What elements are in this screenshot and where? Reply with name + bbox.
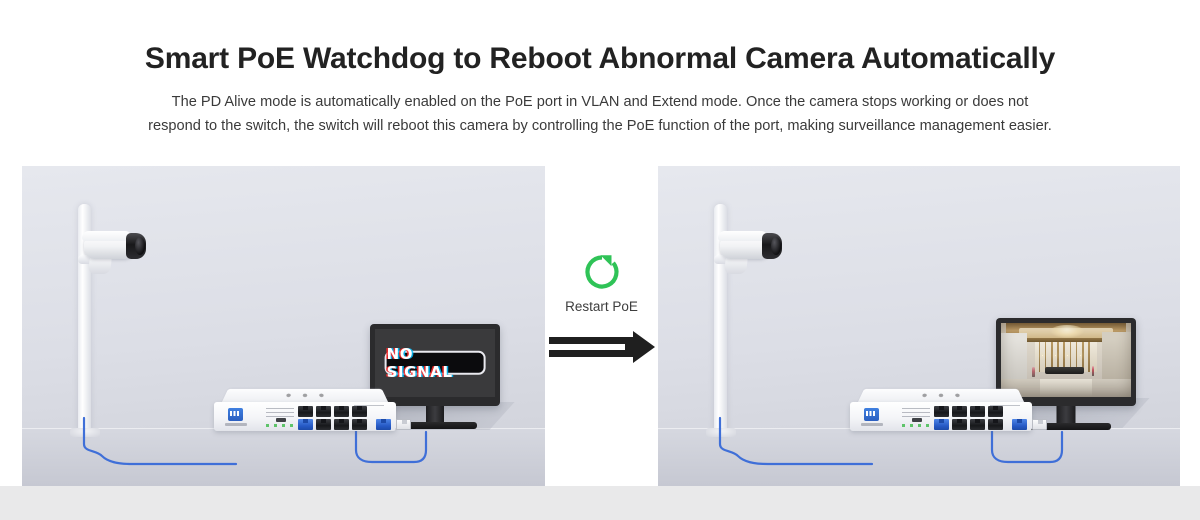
bottom-band <box>0 486 1200 520</box>
switch-front-panel <box>214 402 396 431</box>
vendor-wordmark <box>918 392 965 400</box>
uplink-port-1[interactable] <box>376 419 391 430</box>
poe-port-4[interactable] <box>988 406 1003 417</box>
poe-port-5[interactable] <box>298 419 313 430</box>
page-title: Smart PoE Watchdog to Reboot Abnormal Ca… <box>0 40 1200 78</box>
poe-port-3[interactable] <box>334 406 349 417</box>
vendor-logo-badge <box>864 408 879 421</box>
page-description: The PD Alive mode is automatically enabl… <box>12 90 1188 138</box>
switch-mode-button[interactable] <box>912 418 922 422</box>
no-signal-text: NO SIGNAL <box>387 345 484 381</box>
switch-model-label <box>861 423 883 426</box>
description-line-1: The PD Alive mode is automatically enabl… <box>12 90 1188 114</box>
poe-port-2[interactable] <box>316 406 331 417</box>
camera-lens <box>126 233 146 259</box>
transition-arrow-wrapper <box>545 330 658 369</box>
poe-port-5[interactable] <box>934 419 949 430</box>
switch-port-block <box>298 406 390 430</box>
poe-switch <box>214 384 396 432</box>
bullet-security-camera <box>72 228 152 278</box>
refresh-circular-arrow-icon <box>580 250 624 294</box>
poe-port-6[interactable] <box>316 419 331 430</box>
uplink-port-2[interactable] <box>396 419 411 430</box>
camera-lens <box>762 233 782 259</box>
restart-poe-label: Restart PoE <box>545 299 658 314</box>
switch-status-leds <box>266 424 300 427</box>
restart-poe-indicator: Restart PoE <box>545 250 658 369</box>
uplink-port-1[interactable] <box>1012 419 1027 430</box>
poe-port-4[interactable] <box>352 406 367 417</box>
description-line-2: respond to the switch, the switch will r… <box>12 114 1188 138</box>
poe-port-6[interactable] <box>952 419 967 430</box>
poe-port-2[interactable] <box>952 406 967 417</box>
switch-port-block <box>934 406 1026 430</box>
double-line-right-arrow-icon <box>547 330 657 364</box>
switch-status-leds <box>902 424 936 427</box>
poe-port-8[interactable] <box>988 419 1003 430</box>
poe-port-7[interactable] <box>334 419 349 430</box>
no-signal-plate: NO SIGNAL <box>385 351 486 375</box>
poe-port-1[interactable] <box>934 406 949 417</box>
switch-model-label <box>225 423 247 426</box>
poe-port-8[interactable] <box>352 419 367 430</box>
vendor-logo-badge <box>228 408 243 421</box>
poe-switch <box>850 384 1032 432</box>
poe-port-3[interactable] <box>970 406 985 417</box>
switch-mode-button[interactable] <box>276 418 286 422</box>
illustration-stage: Smart PoE Watchdog to Reboot Abnormal Ca… <box>0 0 1200 520</box>
uplink-port-2[interactable] <box>1032 419 1047 430</box>
poe-port-1[interactable] <box>298 406 313 417</box>
poe-port-7[interactable] <box>970 419 985 430</box>
bullet-security-camera <box>708 228 788 278</box>
vendor-wordmark <box>282 392 329 400</box>
camera-sunshade <box>82 231 132 241</box>
scene-after-panel <box>658 166 1180 486</box>
switch-front-panel <box>850 402 1032 431</box>
scene-before-panel: NO SIGNAL <box>22 166 545 486</box>
camera-sunshade <box>718 231 768 241</box>
